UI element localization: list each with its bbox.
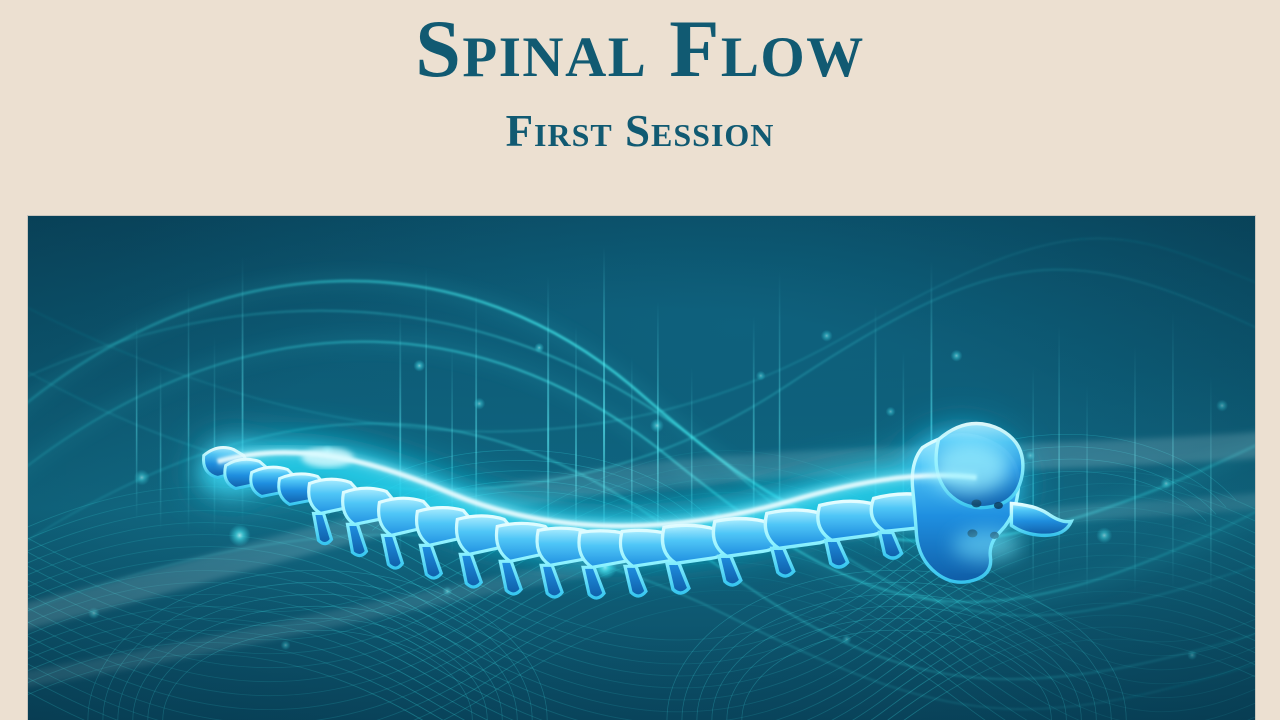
hero-image xyxy=(27,215,1256,720)
slide-root: Spinal Flow First Session xyxy=(0,0,1280,720)
page-subtitle: First Session xyxy=(0,106,1280,156)
page-title: Spinal Flow xyxy=(0,6,1280,92)
spine-illustration xyxy=(28,216,1255,720)
header: Spinal Flow First Session xyxy=(0,0,1280,214)
